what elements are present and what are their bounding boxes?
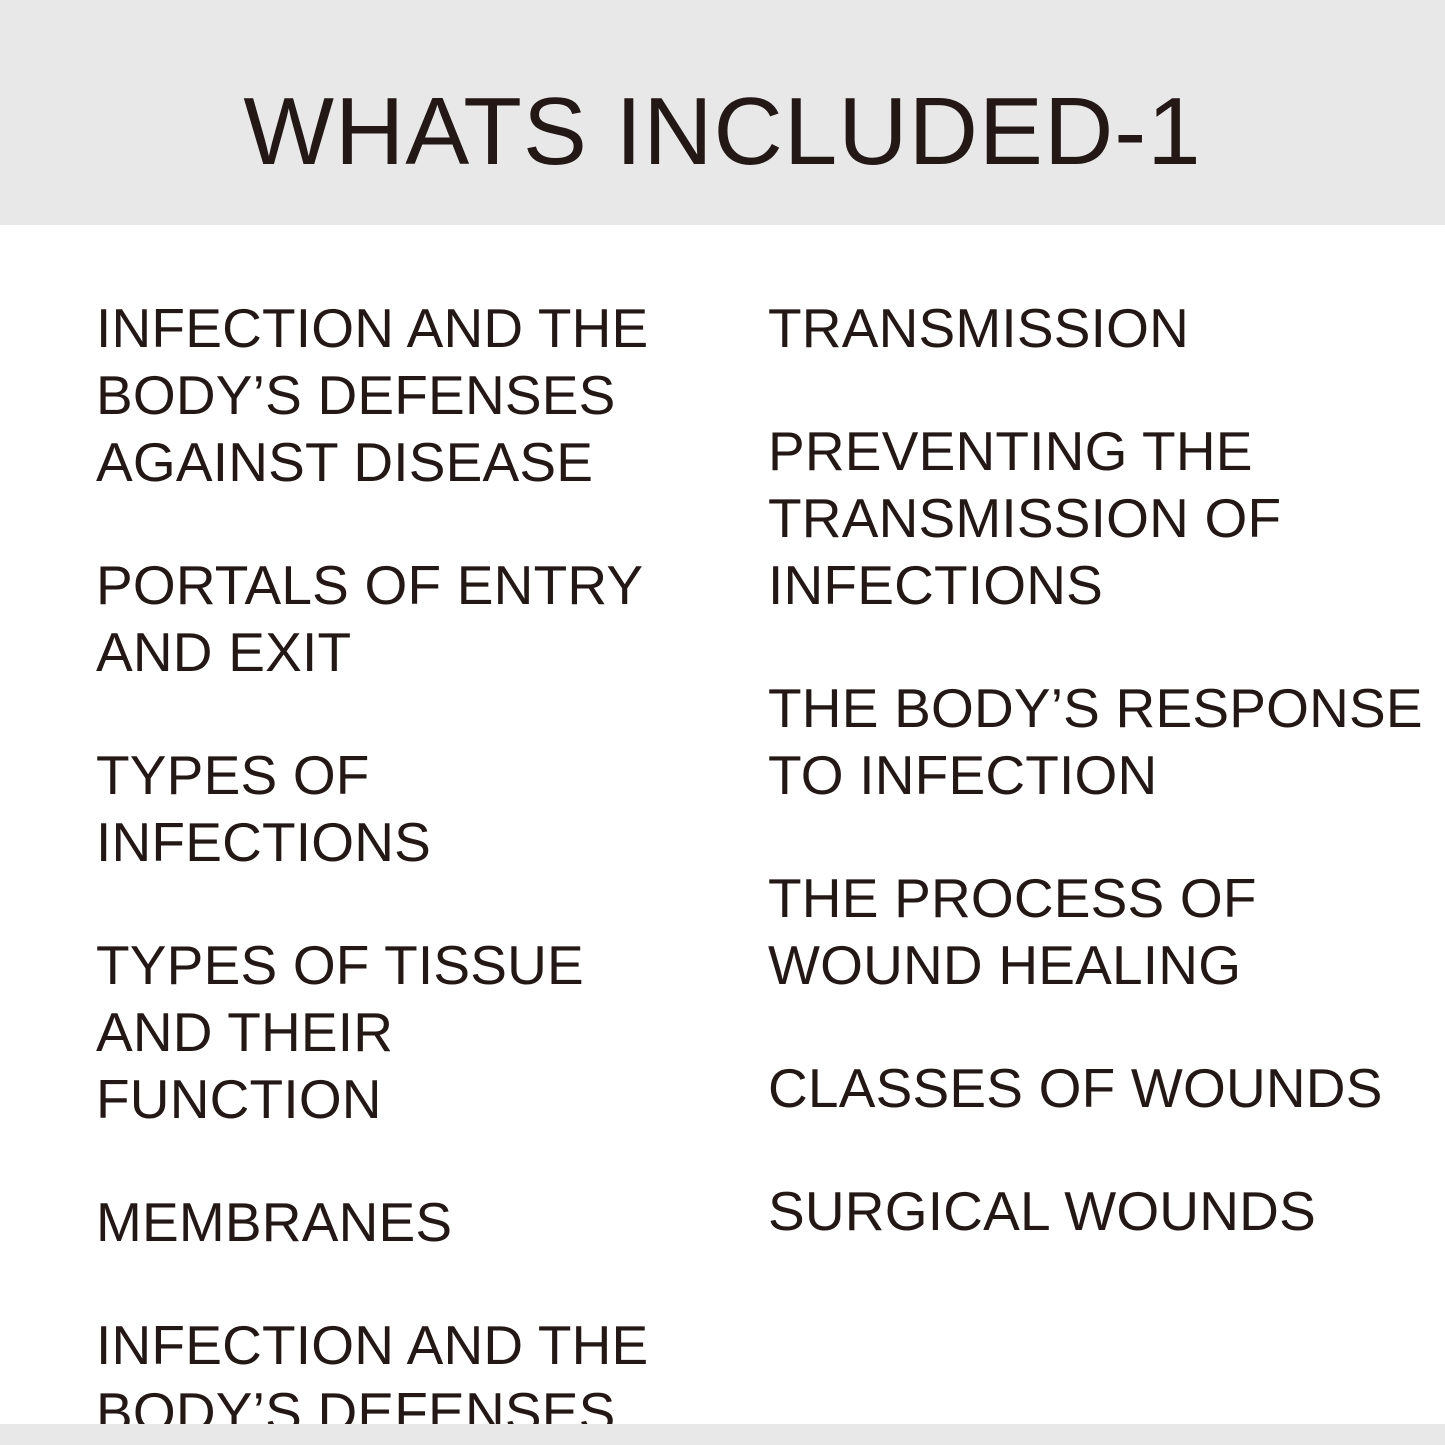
- list-item: SURGICAL WOUNDS: [768, 1178, 1427, 1245]
- list-item: INFECTION AND THE BODY’S DEFENSES AGAINS…: [96, 295, 669, 496]
- left-column: INFECTION AND THE BODY’S DEFENSES AGAINS…: [0, 295, 683, 1445]
- bottom-band: [0, 1424, 1445, 1445]
- page-title: WHATS INCLUDED-1: [0, 76, 1445, 188]
- list-item: THE BODY’S RESPONSE TO INFECTION: [768, 675, 1427, 809]
- list-item: TYPES OF TISSUE AND THEIR FUNCTION: [96, 932, 669, 1133]
- list-item: CLASSES OF WOUNDS: [768, 1055, 1427, 1122]
- list-item: THE PROCESS OF WOUND HEALING: [768, 865, 1427, 999]
- list-item: MEMBRANES: [96, 1189, 669, 1256]
- topic-columns: INFECTION AND THE BODY’S DEFENSES AGAINS…: [0, 295, 1445, 1405]
- list-item: TYPES OF INFECTIONS: [96, 742, 669, 876]
- slide-canvas: WHATS INCLUDED-1 INFECTION AND THE BODY’…: [0, 0, 1445, 1445]
- list-item: PORTALS OF ENTRY AND EXIT: [96, 552, 669, 686]
- list-item: PREVENTING THE TRANSMISSION OF INFECTION…: [768, 418, 1427, 619]
- list-item: TRANSMISSION: [768, 295, 1427, 362]
- right-column: TRANSMISSION PREVENTING THE TRANSMISSION…: [683, 295, 1445, 1245]
